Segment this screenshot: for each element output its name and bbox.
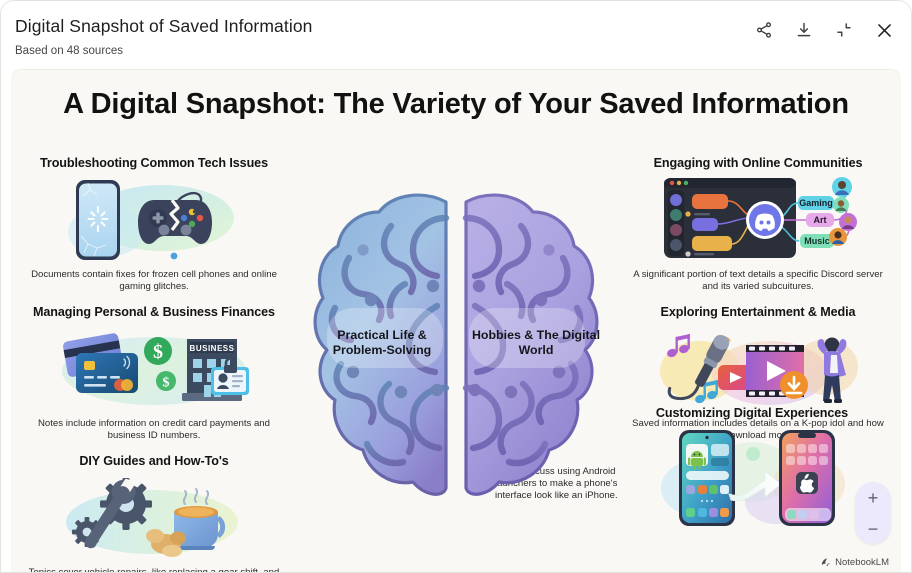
block-caption: Notes include information on credit card… bbox=[25, 418, 283, 441]
microphone-filmstrip-dancer-illustration bbox=[658, 323, 858, 415]
notebooklm-infographic-window: Digital Snapshot of Saved Information Ba… bbox=[0, 0, 912, 573]
svg-text:$: $ bbox=[153, 341, 163, 363]
share-button[interactable] bbox=[749, 15, 779, 45]
notebooklm-brand: NotebookLM bbox=[820, 557, 889, 568]
block-caption: Documents contain fixes for frozen cell … bbox=[25, 269, 283, 292]
phone-and-gamepad-illustration bbox=[54, 174, 254, 266]
block-title: Troubleshooting Common Tech Issues bbox=[25, 156, 283, 170]
block-title: DIY Guides and How-To's bbox=[25, 454, 283, 468]
block-troubleshooting: Troubleshooting Common Tech Issues bbox=[25, 156, 283, 292]
block-title: Customizing Digital Experiences bbox=[617, 406, 887, 420]
block-finances: Managing Personal & Business Finances bbox=[25, 305, 283, 441]
svg-text:Gaming: Gaming bbox=[799, 198, 833, 208]
block-title: Engaging with Online Communities bbox=[629, 156, 887, 170]
svg-text:$: $ bbox=[163, 376, 170, 391]
brain-diagram: Practical Life & Problem-Solving Hobbies… bbox=[305, 188, 607, 508]
svg-text:Art: Art bbox=[814, 215, 827, 225]
collapse-icon bbox=[835, 21, 853, 39]
left-column: Troubleshooting Common Tech Issues bbox=[25, 156, 283, 572]
zoom-controls: + − bbox=[855, 482, 891, 544]
notebooklm-logo-icon bbox=[820, 557, 831, 568]
block-customizing: Customizing Digital Experiences bbox=[617, 406, 887, 535]
close-button[interactable] bbox=[869, 15, 899, 45]
zoom-out-button[interactable]: − bbox=[858, 516, 888, 542]
zoom-in-button[interactable]: + bbox=[858, 485, 888, 511]
source-count-label: Based on 48 sources bbox=[15, 44, 897, 58]
block-title: Exploring Entertainment & Media bbox=[629, 305, 887, 319]
svg-text:Music: Music bbox=[804, 236, 830, 246]
block-caption: A significant portion of text details a … bbox=[629, 269, 887, 292]
infographic-title: A Digital Snapshot: The Variety of Your … bbox=[11, 88, 901, 121]
share-icon bbox=[755, 21, 773, 39]
brain-label-right: Hobbies & The Digital World bbox=[471, 328, 601, 358]
infographic-image: A Digital Snapshot: The Variety of Your … bbox=[11, 70, 901, 572]
block-caption: Topics cover vehicle repairs, like repla… bbox=[25, 567, 283, 572]
close-icon bbox=[875, 21, 894, 40]
discord-server-mindmap-illustration: Gaming Art Music bbox=[658, 174, 858, 266]
download-button[interactable] bbox=[789, 15, 819, 45]
collapse-button[interactable] bbox=[829, 15, 859, 45]
brain-label-left: Practical Life & Problem-Solving bbox=[317, 328, 447, 358]
window-header: Digital Snapshot of Saved Information Ba… bbox=[1, 1, 911, 69]
svg-text:BUSINESS: BUSINESS bbox=[190, 344, 235, 353]
header-actions bbox=[749, 15, 899, 45]
block-title: Managing Personal & Business Finances bbox=[25, 305, 283, 319]
credit-cards-dollars-building-illustration: $ $ BUSINESS bbox=[54, 323, 254, 415]
download-icon bbox=[795, 21, 813, 39]
wrench-gears-teacup-illustration bbox=[54, 472, 254, 564]
block-online-communities: Engaging with Online Communities bbox=[629, 156, 887, 292]
android-to-iphone-illustration bbox=[657, 424, 847, 532]
infographic-canvas[interactable]: A Digital Snapshot: The Variety of Your … bbox=[11, 69, 901, 572]
notebooklm-brand-label: NotebookLM bbox=[835, 557, 889, 568]
block-diy: DIY Guides and How-To's bbox=[25, 454, 283, 572]
